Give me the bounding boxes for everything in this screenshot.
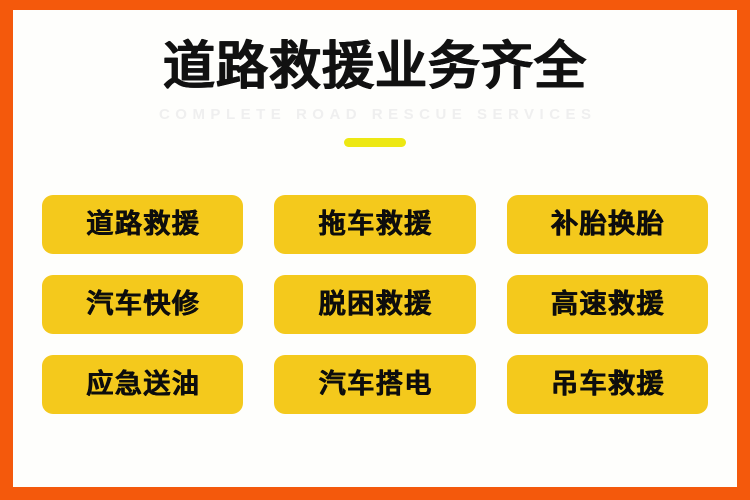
service-button-emergency-fuel-delivery[interactable]: 应急送油	[42, 355, 243, 414]
service-button-tow-rescue[interactable]: 拖车救援	[274, 195, 475, 254]
service-button-quick-car-repair[interactable]: 汽车快修	[42, 275, 243, 334]
page-title: 道路救援业务齐全	[13, 34, 737, 100]
accent-bar	[344, 138, 406, 147]
poster-canvas: 道路救援业务齐全 COMPLETE ROAD RESCUE SERVICES 道…	[13, 10, 737, 487]
service-button-extrication-rescue[interactable]: 脱困救援	[274, 275, 475, 334]
service-button-road-rescue[interactable]: 道路救援	[42, 195, 243, 254]
service-button-car-jump-start[interactable]: 汽车搭电	[274, 355, 475, 414]
header: 道路救援业务齐全 COMPLETE ROAD RESCUE SERVICES	[13, 10, 737, 147]
service-button-crane-rescue[interactable]: 吊车救援	[507, 355, 708, 414]
service-button-highway-rescue[interactable]: 高速救援	[507, 275, 708, 334]
page-subtitle: COMPLETE ROAD RESCUE SERVICES	[13, 106, 737, 124]
poster-frame: 道路救援业务齐全 COMPLETE ROAD RESCUE SERVICES 道…	[0, 0, 750, 500]
service-button-grid: 道路救援 拖车救援 补胎换胎 汽车快修 脱困救援 高速救援 应急送油 汽车搭电 …	[42, 195, 708, 414]
service-button-tire-repair-change[interactable]: 补胎换胎	[507, 195, 708, 254]
